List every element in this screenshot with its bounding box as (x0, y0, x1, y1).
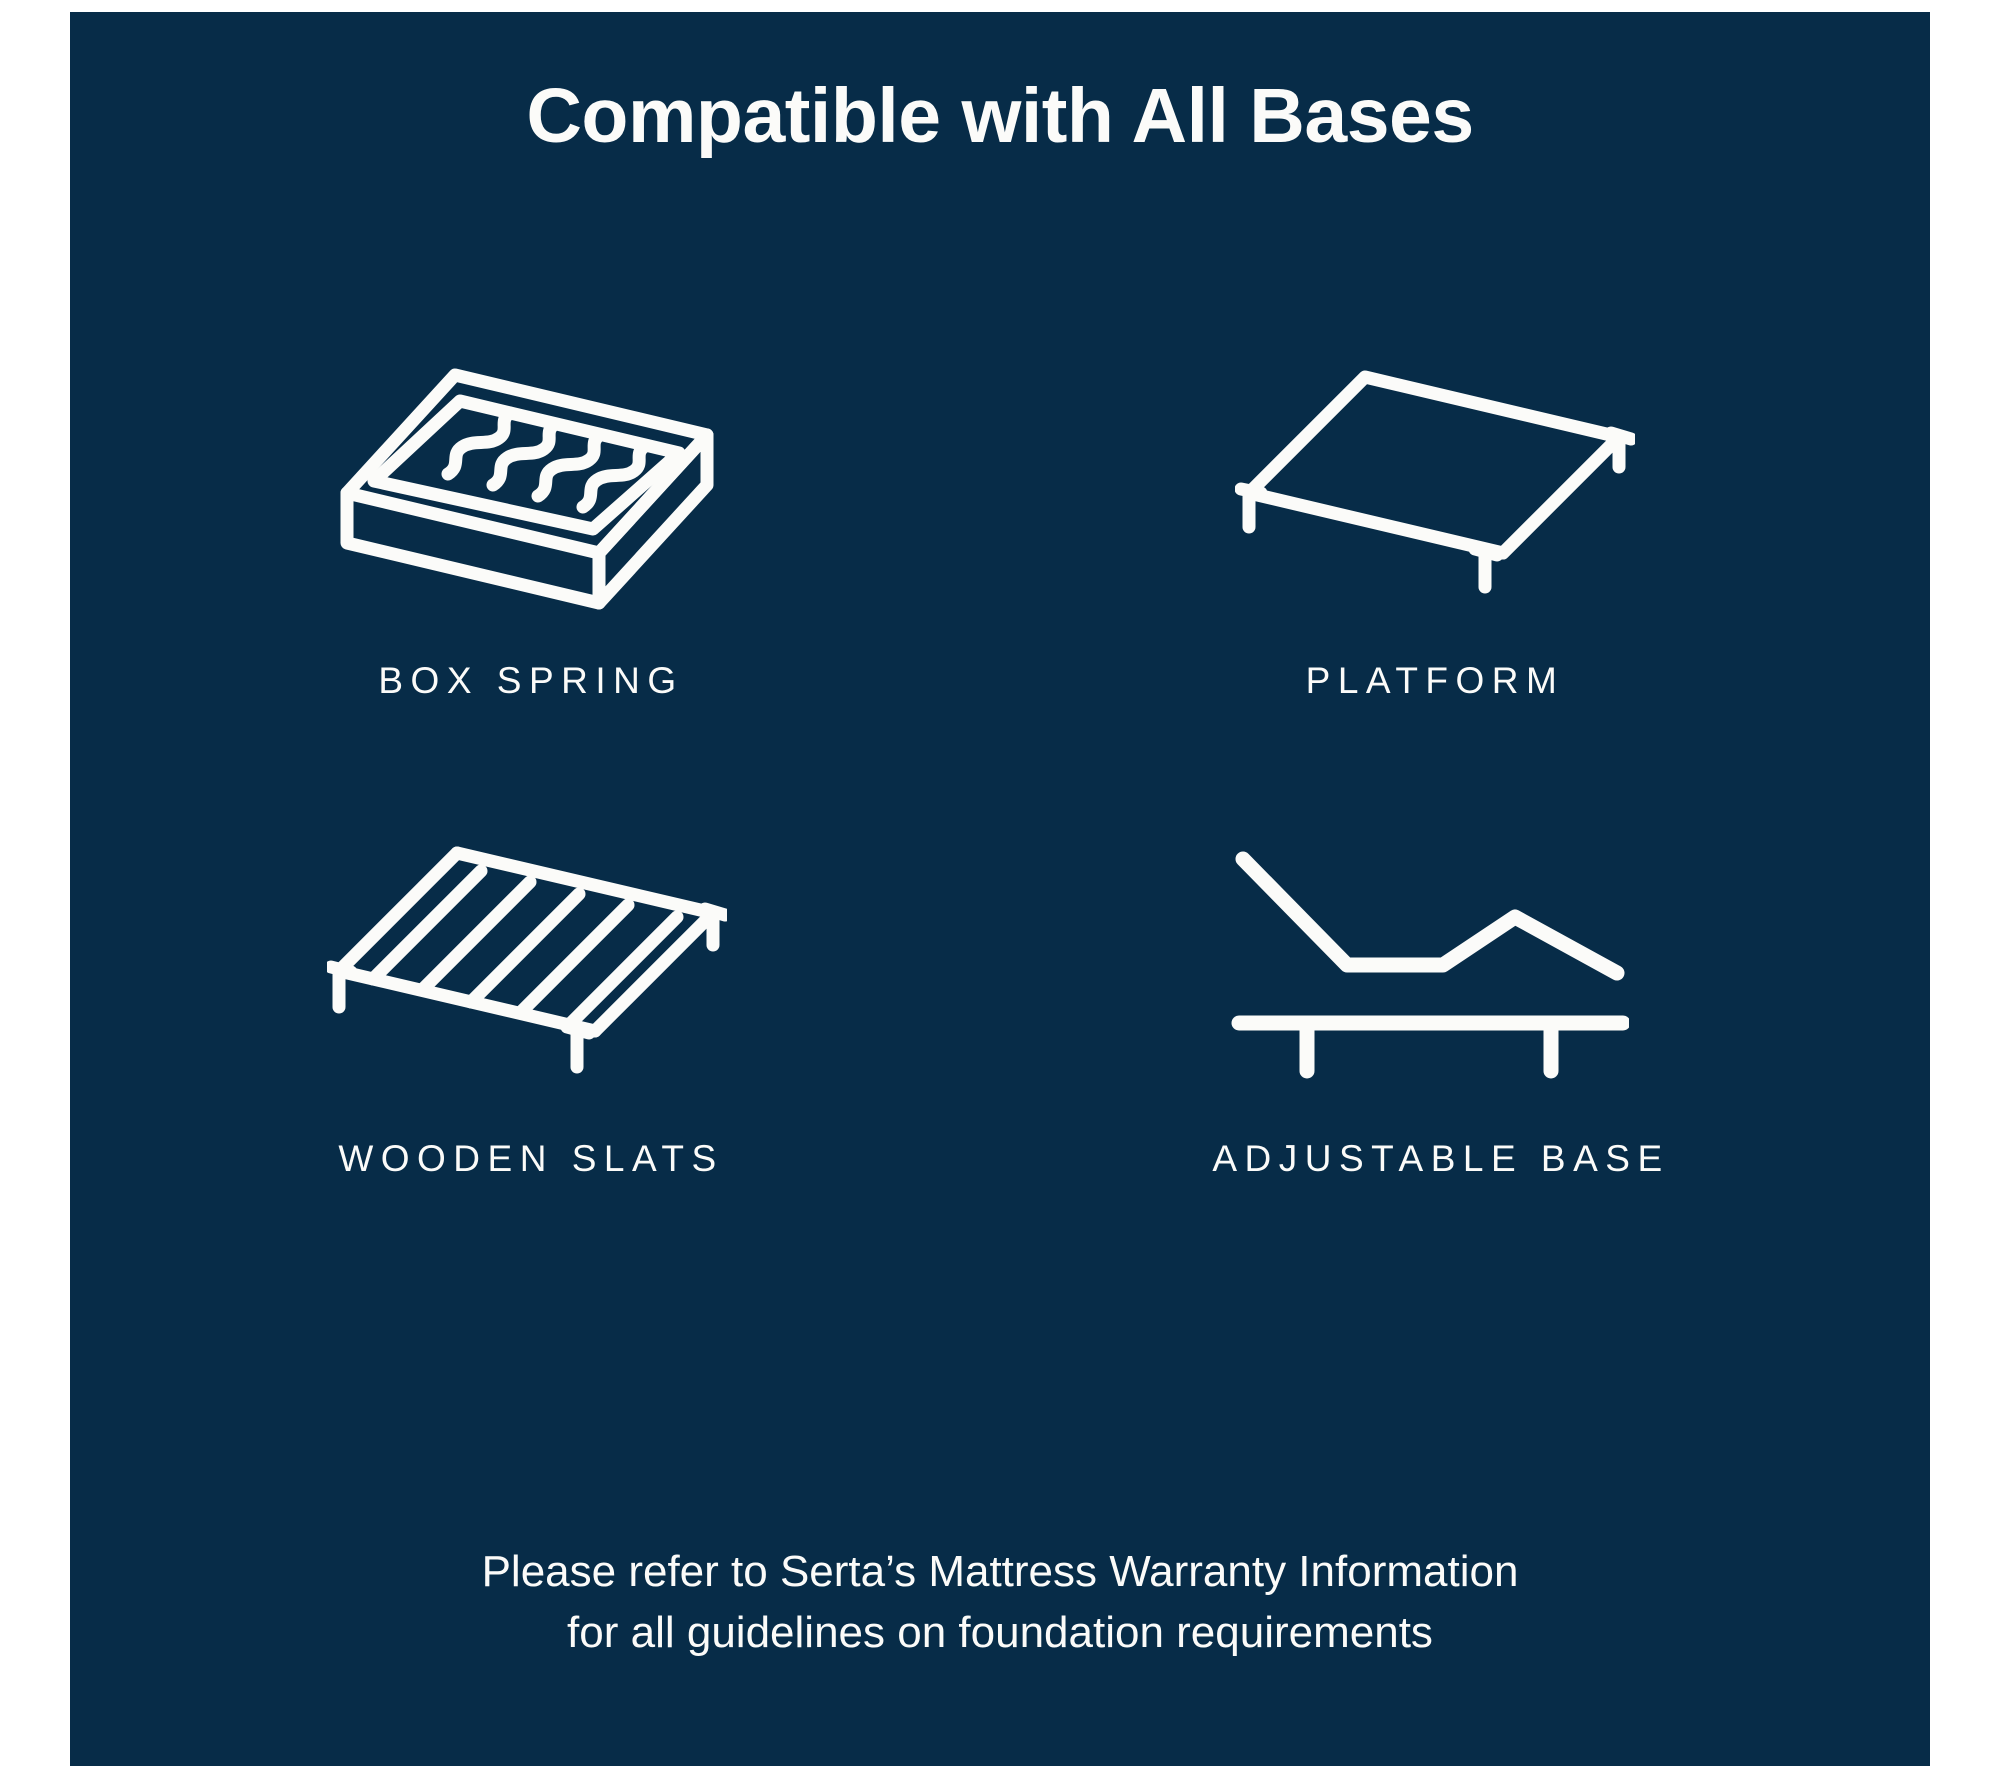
base-card-box-spring[interactable]: BOX SPRING (70, 342, 1000, 702)
warranty-footnote-line-1: Please refer to Serta’s Mattress Warrant… (70, 1542, 1930, 1603)
base-card-wooden-slats[interactable]: WOODEN SLATS (70, 820, 1000, 1180)
screenshot-root: Compatible with All Bases (0, 0, 2000, 1778)
base-types-grid: BOX SPRING (70, 342, 1930, 1180)
warranty-footnote: Please refer to Serta’s Mattress Warrant… (70, 1542, 1930, 1663)
base-label-wooden-slats: WOODEN SLATS (338, 1138, 723, 1180)
page-title: Compatible with All Bases (70, 76, 1930, 157)
wooden-slats-icon (327, 820, 727, 1110)
base-label-box-spring: BOX SPRING (378, 660, 683, 702)
box-spring-icon (327, 342, 727, 632)
compatibility-panel: Compatible with All Bases (70, 12, 1930, 1766)
warranty-footnote-line-2: for all guidelines on foundation require… (70, 1603, 1930, 1664)
adjustable-base-icon (1229, 820, 1629, 1110)
platform-icon (1235, 342, 1635, 632)
base-card-adjustable-base[interactable]: ADJUSTABLE BASE (1000, 820, 1930, 1180)
base-label-adjustable-base: ADJUSTABLE BASE (1212, 1138, 1669, 1180)
base-label-platform: PLATFORM (1306, 660, 1565, 702)
base-card-platform[interactable]: PLATFORM (1000, 342, 1930, 702)
